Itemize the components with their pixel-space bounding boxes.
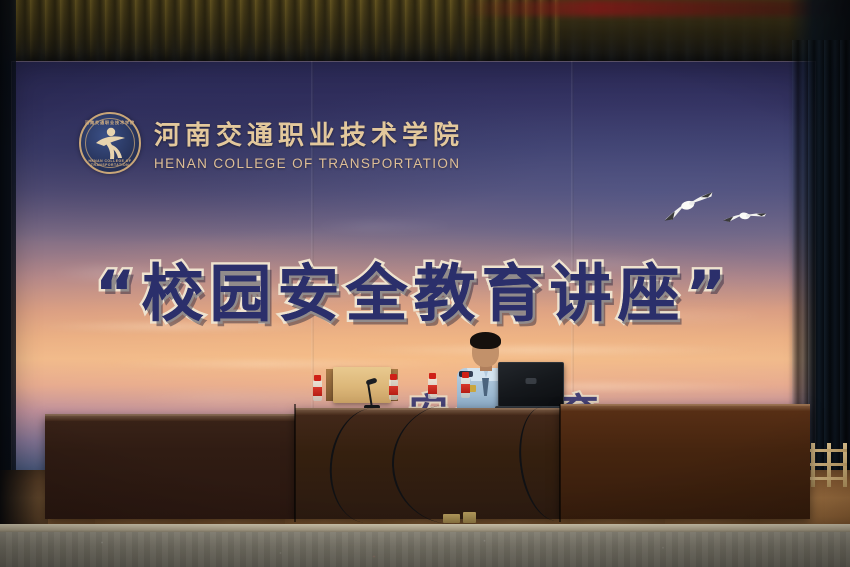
presenter-table-left: [45, 414, 295, 519]
institution-name-cn: 河南交通职业技术学院: [154, 115, 464, 152]
institution-name-en: HENAN COLLEGE OF TRANSPORTATION: [154, 156, 464, 171]
banner-headline: “校园安全教育讲座”: [11, 243, 816, 333]
cream-placard: [333, 367, 391, 403]
cloud-streak: [341, 346, 761, 354]
emblem-figure-icon: [90, 123, 130, 163]
placard-side-left: [326, 369, 333, 401]
cloud: [311, 221, 451, 231]
laptop: [498, 362, 564, 407]
presenter-table-right: [560, 404, 810, 519]
table-seam: [294, 404, 296, 522]
water-bottle: [428, 373, 437, 399]
stage-floor-shadow: [0, 470, 48, 528]
water-bottle: [313, 375, 322, 401]
stage-photo-scene: 河南交通职业技术学院 HENAN COLLEGE OF TRANSPORTATI…: [0, 0, 850, 567]
speaker-hair: [470, 332, 501, 349]
laptop-logo: [526, 378, 537, 384]
floor-equipment-box: [463, 512, 476, 523]
institution-lockup: 河南交通职业技术学院 HENAN COLLEGE OF TRANSPORTATI…: [79, 112, 464, 174]
institution-names: 河南交通职业技术学院 HENAN COLLEGE OF TRANSPORTATI…: [154, 115, 464, 171]
water-bottle: [389, 374, 398, 400]
curtain-left-panel: [0, 0, 16, 505]
floor-equipment-box: [443, 514, 460, 523]
cloud-streak: [101, 361, 461, 367]
stage-apron-texture: [0, 532, 850, 567]
water-bottle: [461, 372, 470, 398]
henan-college-emblem-icon: 河南交通职业技术学院 HENAN COLLEGE OF TRANSPORTATI…: [79, 112, 141, 174]
